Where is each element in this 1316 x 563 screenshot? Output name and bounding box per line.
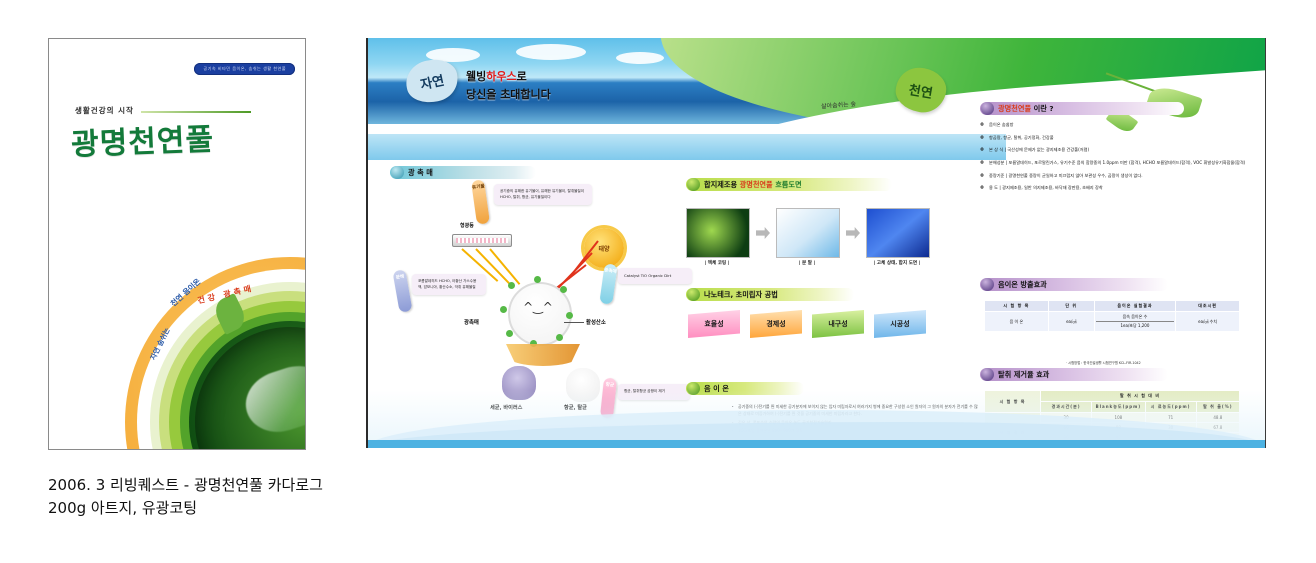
banner-line2: 당신을 초대합니다 xyxy=(466,86,551,104)
flow-caption-3: | 고체 상태, 합지 도면 | xyxy=(866,260,928,266)
about-item: ※음이온 숨쉽방 xyxy=(980,122,1248,128)
about-star: ※ xyxy=(980,173,989,179)
table-cell: 음 이 온 xyxy=(985,312,1049,332)
about-item: ※중량기준 | 광명천연풀 중량이 균일하고 미끄럽지 않아 보관성 우수, 곰… xyxy=(980,173,1248,179)
arrow-right-icon xyxy=(756,227,770,239)
callout-organic: 공기중의 유해한 유기물이, 유해한 유기물이, 탈취물질이 HCHO, 탈취,… xyxy=(494,184,592,205)
nub xyxy=(560,286,567,293)
bullet-dot-icon xyxy=(981,368,994,381)
about-star: ※ xyxy=(980,135,989,141)
section-title-photocatalyst: 광 촉 매 xyxy=(408,168,433,178)
table-anion-note: · 시험방법 : 한국건설생활 시험연구원 KCL-FIR-1042 xyxy=(1066,360,1141,365)
flow-caption-2: | 분 말 | xyxy=(776,260,838,266)
about-star: ※ xyxy=(980,160,989,166)
cloud-icon xyxy=(516,44,586,60)
cover-logo: 광명천연풀 - 2006. 3. 리빙 - xyxy=(301,447,306,450)
pill-organic: 유기물 xyxy=(471,179,490,224)
bullet-dot-icon xyxy=(981,102,994,115)
brochure-spread: 자연 천연 웰빙하우스로 당신을 초대합니다 살아숨쉬는 숲 광 촉 매 유기물… xyxy=(366,38,1266,448)
caption-line-2: 200g 아트지, 유광코팅 xyxy=(48,497,323,520)
nub xyxy=(508,282,515,289)
table-header-cell: 시 험 항 목 xyxy=(985,301,1049,312)
mascot-face: ^‿^ xyxy=(520,300,556,324)
flow-title-c: 흐름도면 xyxy=(775,180,801,190)
spread-right-edge xyxy=(1265,38,1266,448)
table-cell-top: 음속 음이온 수 xyxy=(1096,314,1175,320)
blue-band xyxy=(366,134,1006,160)
section-header-flow: 합지제조용 광명천연풀 흐름도면 xyxy=(686,178,892,191)
section-header-nano: 나노테크, 초미립자 공법 xyxy=(686,288,854,301)
about-item: ※항곰팡, 항균, 탈취, 공기정화, 건강풀 xyxy=(980,135,1248,141)
nano-box-economy: 경제성 xyxy=(750,310,802,338)
flow-title-b: 광명천연풀 xyxy=(740,180,773,190)
section-title-deodor: 탈취 제거율 효과 xyxy=(998,370,1049,380)
nub xyxy=(556,334,563,341)
bullet-dot-icon xyxy=(687,288,700,301)
pill-catalyst: 광촉매 xyxy=(599,263,617,304)
about-text: 음이온 숨쉽방 xyxy=(989,122,1248,128)
table-header-cell: 음이온 실험결과 xyxy=(1094,301,1176,312)
about-text: 항곰팡, 항균, 탈취, 공기정화, 건강풀 xyxy=(989,135,1248,141)
section-title-anion-effect: 음이온 방출효과 xyxy=(998,280,1047,290)
lamp-label: 형광등 xyxy=(460,222,474,229)
table-anion-effect: 시 험 항 목 단 위 음이온 실험결과 대조시편 음 이 온 ea/㎤ 음속 … xyxy=(984,300,1240,332)
banner-headline: 웰빙하우스로 당신을 초대합니다 xyxy=(466,68,551,103)
about-text: 분해성분 | 포름알데히드, 포르말린가스, 유기수준 음의 함량중의 1.0p… xyxy=(989,160,1248,166)
cover-rule xyxy=(141,111,251,113)
section-title-nano: 나노테크, 초미립자 공법 xyxy=(704,290,778,300)
nub xyxy=(506,330,513,337)
section-header-deodor: 탈취 제거율 효과 xyxy=(980,368,1168,381)
flow-title-a: 합지제조용 xyxy=(704,180,737,190)
callout-decompose: 포름알데히드 HCHO, 아황산 가스수용액, 암모니아, 황산수소, 악취 유… xyxy=(412,274,486,295)
about-item: ※용 도 | 광지제조용, 일반 의지제조용, 바닥재 장판용, 초배지 장착 xyxy=(980,185,1248,191)
about-title-a: 광명천연풀 xyxy=(998,104,1031,114)
flow-caption-1: | 액체 코팅 | xyxy=(686,260,748,266)
about-text: 본 상 식 | 국산성에 문제가 없는 광지제조용 건강풀(저렴) xyxy=(989,147,1248,153)
fold-line xyxy=(366,38,368,448)
flow-image-3 xyxy=(866,208,930,258)
about-text: 중량기준 | 광명천연풀 중량이 균일하고 미끄럽지 않아 보관성 우수, 곰팡… xyxy=(989,173,1248,179)
banner-word-wellbeing: 웰빙 xyxy=(466,70,486,83)
table-row: 음 이 온 ea/㎤ 음속 음이온 수 1ea/초당 1,200 ea/㎤ 수치 xyxy=(985,312,1240,332)
about-item: ※분해성분 | 포름알데히드, 포르말린가스, 유기수준 음의 함량중의 1.0… xyxy=(980,160,1248,166)
caption: 2006. 3 리빙퀘스트 - 광명천연풀 카다로그 200g 아트지, 유광코… xyxy=(48,474,323,521)
banner-word-ro: 로 xyxy=(517,70,527,83)
about-text: 용 도 | 광지제조용, 일반 의지제조용, 바닥재 장판용, 초배지 장착 xyxy=(989,185,1248,191)
sun-label: 태양 xyxy=(598,244,609,253)
about-star: ※ xyxy=(980,147,989,153)
nano-box-efficiency: 효율성 xyxy=(688,310,740,338)
arrow-right-icon xyxy=(846,227,860,239)
label-active-oxygen: 활성산소 xyxy=(586,318,606,326)
brochure-cover: 공기속 비타민 음이온, 숨쉬는 생활 천연풀 생활건강의 시작 광명천연풀 건… xyxy=(48,38,306,450)
banner-word-house: 하우스 xyxy=(486,70,516,83)
table-cell: ea/㎤ 수치 xyxy=(1176,312,1240,332)
section-header-about: 광명천연풀 이란 ? xyxy=(980,102,1184,115)
about-title-b: 이란 ? xyxy=(1034,104,1054,114)
flow-diagram: | 액체 코팅 | | 분 말 | | 고체 상태, 합지 도면 | xyxy=(686,198,936,268)
nub xyxy=(500,306,507,313)
table-header-row: 시 험 항 목 단 위 음이온 실험결과 대조시편 xyxy=(985,301,1240,312)
about-star: ※ xyxy=(980,122,989,128)
about-list: ※음이온 숨쉽방 ※항곰팡, 항균, 탈취, 공기정화, 건강풀 ※본 상 식 … xyxy=(980,122,1248,198)
fluorescent-lamp-icon xyxy=(452,234,512,247)
cover-subtitle: 생활건강의 시작 xyxy=(75,105,134,116)
nub xyxy=(534,276,541,283)
flow-image-2 xyxy=(776,208,840,258)
table-cell: ea/㎤ xyxy=(1048,312,1094,332)
sweep-arrow xyxy=(506,344,580,366)
bottom-bar xyxy=(366,440,1266,448)
bullet-dot-icon xyxy=(687,178,700,191)
lamp-inner xyxy=(456,238,508,243)
nub xyxy=(566,312,573,319)
section-header-anion-effect: 음이온 방출효과 xyxy=(980,278,1168,291)
table-header-cell: 대조시편 xyxy=(1176,301,1240,312)
nano-boxes: 효율성 경제성 내구성 시공성 xyxy=(688,310,938,354)
pill-decompose: 분해 xyxy=(392,269,412,313)
caption-line-1: 2006. 3 리빙퀘스트 - 광명천연풀 카다로그 xyxy=(48,474,323,497)
cover-title: 광명천연풀 xyxy=(70,114,215,163)
bullet-dot-icon xyxy=(981,278,994,291)
about-star: ※ xyxy=(980,185,989,191)
table-cell-sub: 1ea/초당 1,200 xyxy=(1096,321,1175,329)
nano-box-durability: 내구성 xyxy=(812,310,864,338)
about-item: ※본 상 식 | 국산성에 문제가 없는 광지제조용 건강풀(저렴) xyxy=(980,147,1248,153)
cover-badge: 공기속 비타민 음이온, 숨쉬는 생활 천연풀 xyxy=(194,63,295,75)
callout-catalyst: Catalyst TiO Organic Dirt xyxy=(618,268,692,284)
cloud-icon xyxy=(616,52,664,64)
table-cell: 음속 음이온 수 1ea/초당 1,200 xyxy=(1094,312,1176,332)
table-header-cell: 단 위 xyxy=(1048,301,1094,312)
flow-image-1 xyxy=(686,208,750,258)
nano-box-workability: 시공성 xyxy=(874,310,926,338)
label-photocatalyst: 광촉매 xyxy=(464,318,479,326)
